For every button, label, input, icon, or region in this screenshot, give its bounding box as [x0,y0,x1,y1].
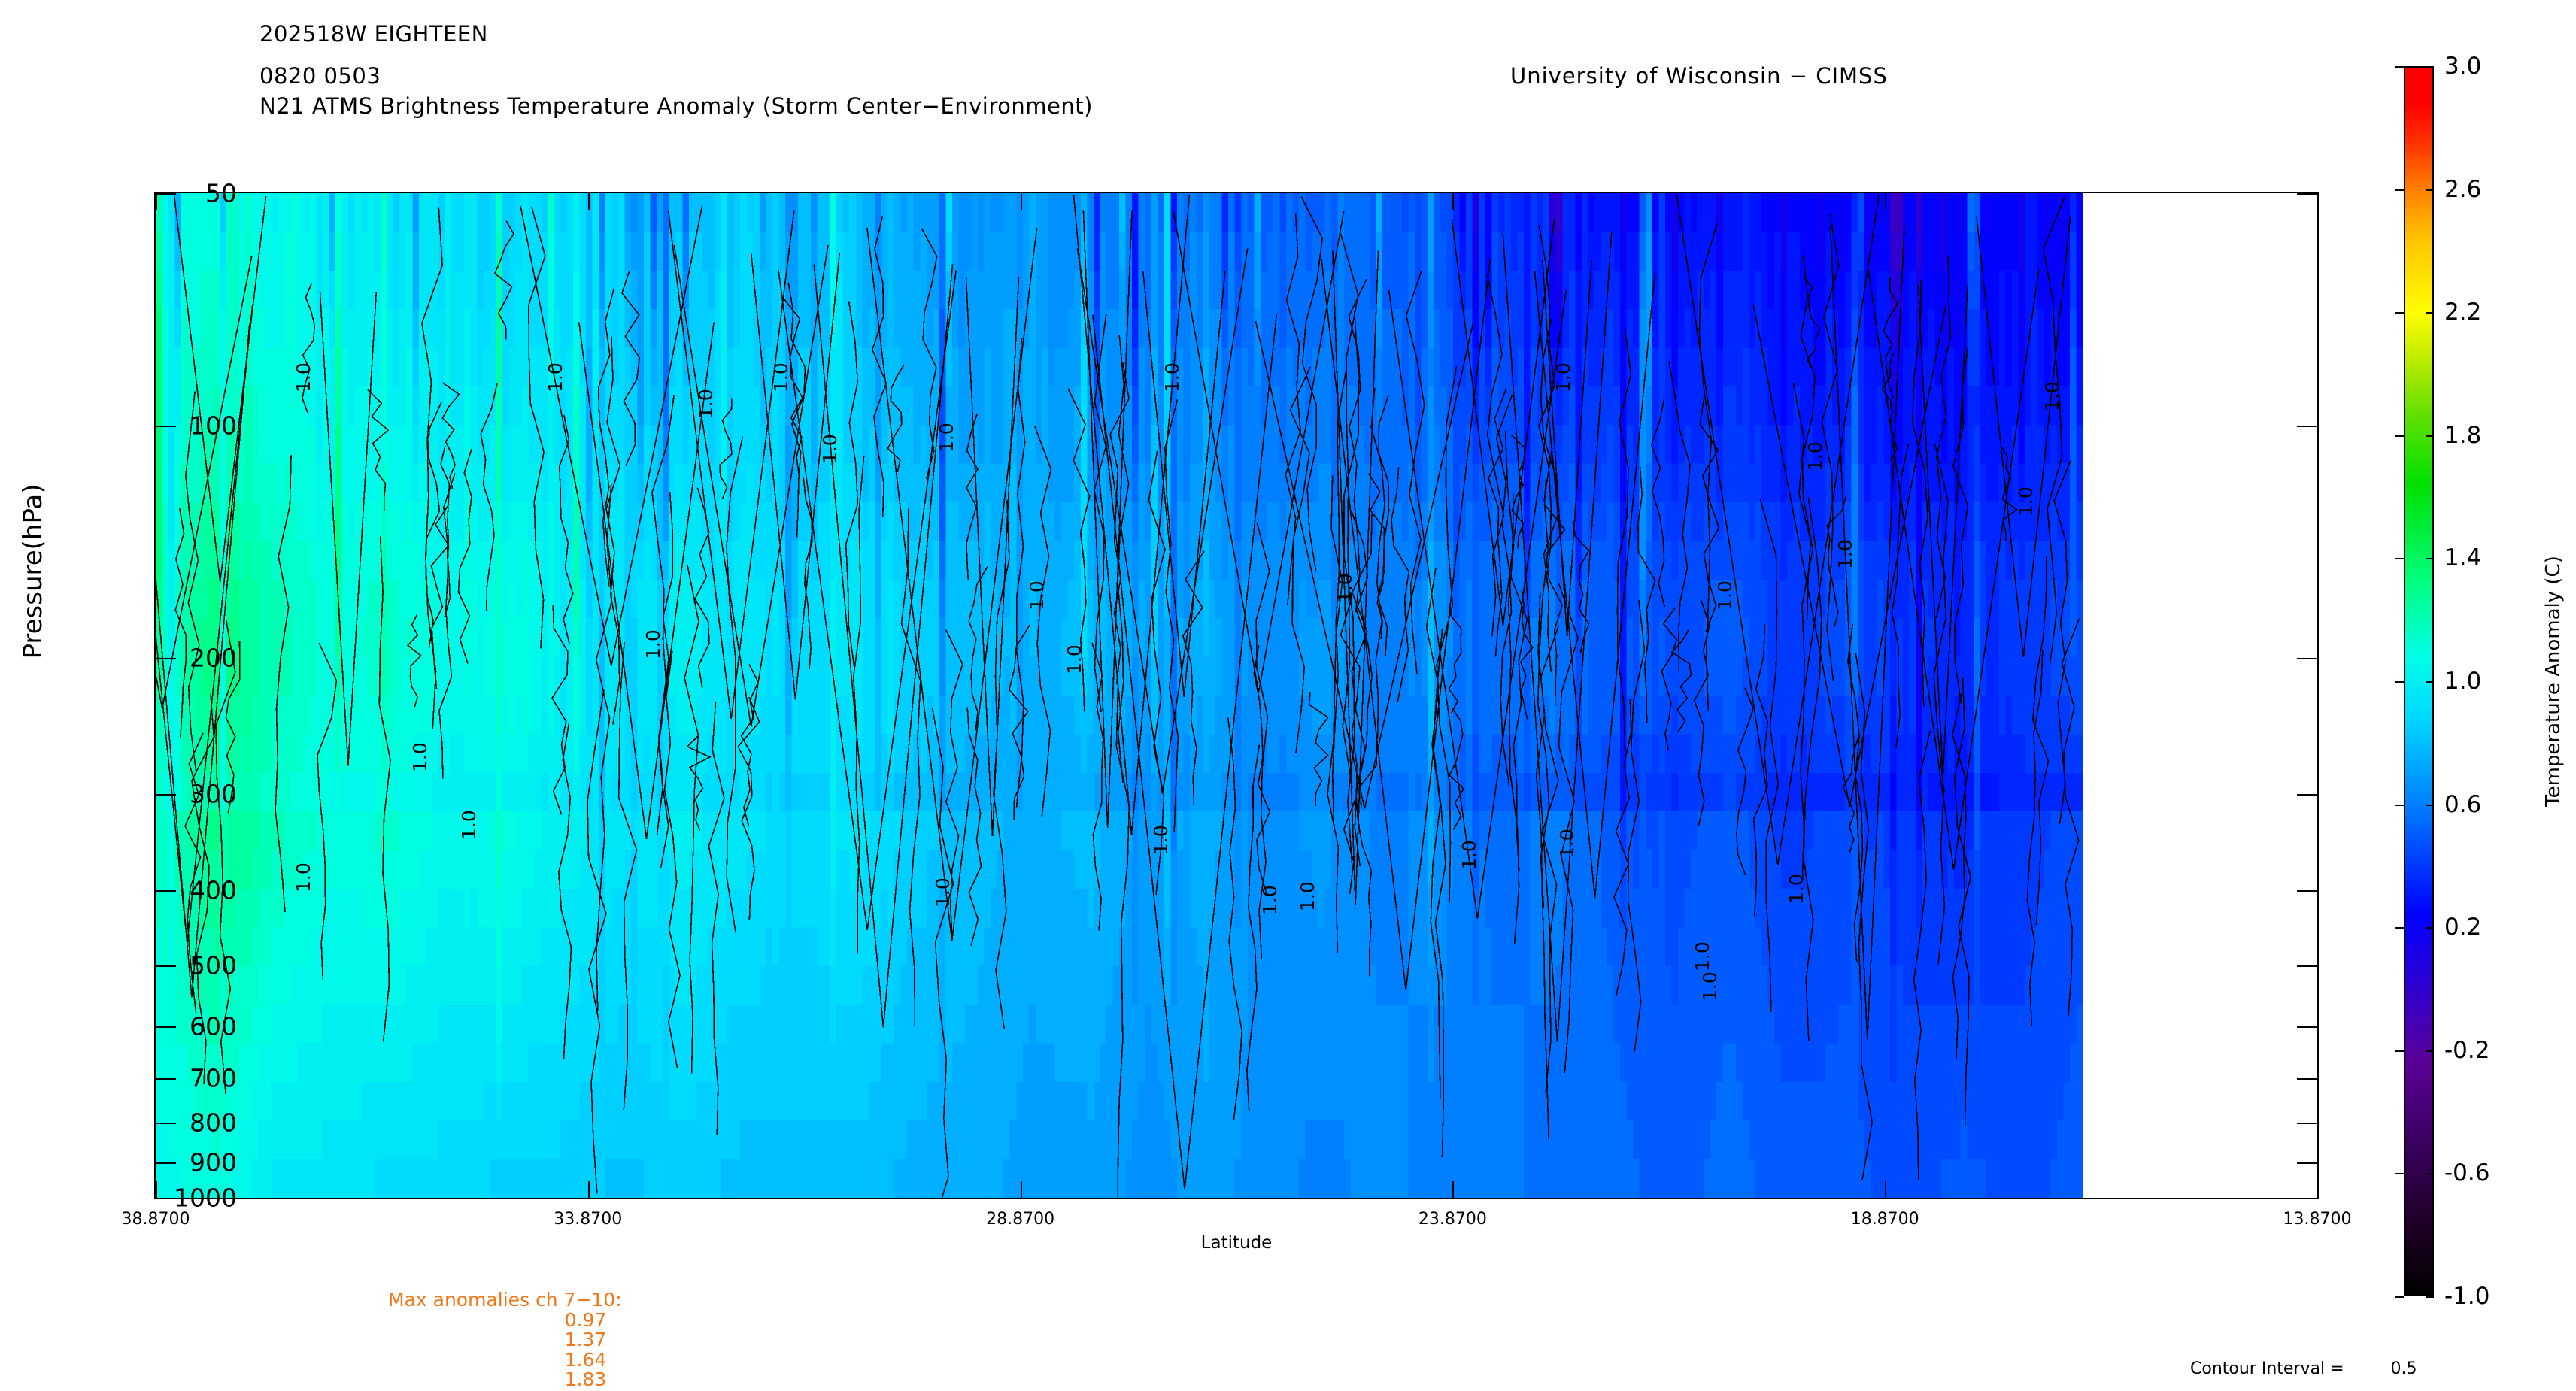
contour-label: 1.0 [545,362,566,392]
y-tick [156,1026,176,1028]
colorbar-tick [2426,927,2434,929]
colorbar-tick [2395,66,2404,68]
y-tick-label: 1000 [174,1183,237,1213]
y-tick [2297,1123,2317,1124]
colorbar-tick-label: -0.2 [2444,1037,2490,1064]
contour-label: 1.0 [1259,885,1281,915]
x-tick-label: 33.8700 [554,1210,622,1229]
contour-label: 1.0 [1026,580,1048,611]
contour-label: 1.0 [1150,825,1172,855]
x-tick [2317,193,2319,210]
x-tick-label: 13.8700 [2283,1210,2352,1229]
colorbar-tick [2395,805,2404,806]
contour-label: 1.0 [642,629,664,659]
contour-label: 1.0 [819,434,841,464]
contour-label: 1.0 [695,389,717,419]
contour-label: 1.0 [1714,580,1736,611]
max-anomalies-label: Max anomalies ch 7−10: [388,1290,655,1311]
contour-label: 1.0 [2041,381,2063,411]
colorbar-tick-label: 2.2 [2444,299,2481,326]
colorbar-tick [2395,189,2404,191]
x-tick-label: 18.8700 [1851,1210,1919,1229]
x-tick [156,1181,157,1198]
cross-section-plot[interactable]: 1.01.01.01.01.01.01.01.01.01.01.01.01.01… [154,192,2319,1199]
y-tick [156,1198,176,1199]
colorbar-tick [2395,312,2404,314]
y-tick-label: 700 [190,1063,237,1092]
max-anomaly-value: 1.64 [516,1350,655,1371]
y-tick-label: 900 [190,1148,237,1177]
x-tick-label: 23.8700 [1418,1210,1487,1229]
max-anomaly-value: 0.97 [516,1311,655,1331]
colorbar-tick [2395,927,2404,929]
contour-label: 1.0 [1699,971,1721,1002]
colorbar-tick [2395,681,2404,683]
contour-label: 1.0 [1161,362,1183,392]
x-axis-title: Latitude [1201,1233,1273,1253]
colorbar-tick-label: -1.0 [2444,1283,2490,1310]
contour-label: 1.0 [2015,486,2037,517]
y-tick [2297,426,2317,427]
colorbar-tick [2426,1296,2434,1298]
contour-label: 1.0 [1334,573,1356,603]
institution-label: University of Wisconsin − CIMSS [1510,63,1888,89]
y-tick [156,658,176,659]
contour-label: 1.0 [1063,644,1085,674]
colorbar-tick [2426,681,2434,683]
colorbar-tick [2426,66,2434,68]
y-tick [2297,1162,2317,1164]
colorbar-tick [2426,1173,2434,1174]
contour-label: 1.0 [409,742,431,772]
y-tick [2297,794,2317,796]
contour-label: 1.0 [293,862,314,892]
colorbar-tick-label: 3.0 [2444,53,2481,80]
y-tick-label: 300 [190,780,237,809]
colorbar-tick [2395,558,2404,559]
contour-label: 1.0 [1786,874,1807,904]
x-tick [1452,1181,1454,1198]
contour-label: 1.0 [936,423,957,453]
x-tick [1021,193,1022,210]
colorbar-tick-label: 1.8 [2444,422,2481,449]
y-tick-label: 400 [190,876,237,905]
y-tick [2297,1198,2317,1199]
y-tick [2297,1078,2317,1080]
x-tick [1452,193,1454,210]
colorbar-tick [2395,435,2404,437]
observation-times: 0820 0503 [259,63,381,89]
colorbar-tick [2426,435,2434,437]
colorbar-tick [2426,1050,2434,1052]
storm-id-label: 202518W EIGHTEEN [259,21,488,47]
y-axis-title: Pressure(hPa) [18,483,48,659]
contour-label: 1.0 [1297,881,1318,911]
contour-label: 1.0 [293,362,314,392]
colorbar-tick [2395,1050,2404,1052]
contour-label: 1.0 [1552,362,1574,392]
contour-field: 1.01.01.01.01.01.01.01.01.01.01.01.01.01… [156,193,2083,1198]
contour-interval-note: Contour Interval =0.5 [2190,1359,2417,1378]
x-tick [588,1181,590,1198]
y-tick [156,1078,176,1080]
x-tick-label: 38.8700 [122,1210,190,1229]
x-tick [588,193,590,210]
x-tick [1885,1181,1886,1198]
contour-label: 1.0 [1692,941,1713,971]
y-tick [156,426,176,427]
contour-label: 1.0 [1458,840,1480,870]
max-anomaly-value: 1.83 [516,1370,655,1390]
max-anomalies-annotation: Max anomalies ch 7−10: 0.97 1.37 1.64 1.… [388,1290,655,1390]
x-tick [2317,1181,2319,1198]
y-tick-label: 100 [190,411,237,441]
max-anomaly-value: 1.37 [516,1330,655,1350]
plot-description: N21 ATMS Brightness Temperature Anomaly … [259,93,1093,119]
y-tick [156,193,176,195]
colorbar-tick-label: 1.4 [2444,544,2481,571]
y-tick [156,1123,176,1124]
x-tick-label: 28.8700 [986,1210,1054,1229]
y-tick [2297,193,2317,195]
y-tick-label: 600 [190,1012,237,1041]
y-tick [156,794,176,796]
y-tick-label: 800 [190,1108,237,1138]
colorbar-tick [2426,805,2434,806]
y-tick [156,890,176,892]
y-tick [2297,658,2317,659]
colorbar-tick-label: 0.2 [2444,914,2481,941]
colorbar-tick-label: 0.6 [2444,791,2481,818]
colorbar-title: Temperature Anomaly (C) [2542,556,2565,807]
x-tick [1885,193,1886,210]
contour-label: 1.0 [458,810,480,840]
y-tick [2297,1026,2317,1028]
colorbar[interactable] [2404,66,2434,1296]
contour-interval-value: 0.5 [2391,1359,2417,1378]
colorbar-tick [2426,558,2434,559]
colorbar-tick-label: 1.0 [2444,668,2481,695]
y-tick [156,1162,176,1164]
contour-label: 1.0 [932,877,954,908]
colorbar-tick [2395,1296,2404,1298]
colorbar-tick [2426,189,2434,191]
colorbar-tick-label: 2.6 [2444,176,2481,203]
y-tick-label: 500 [190,950,237,980]
y-tick [2297,965,2317,967]
y-tick-label: 200 [190,644,237,673]
y-tick [156,965,176,967]
contour-label: 1.0 [770,362,792,392]
x-tick [156,193,157,210]
colorbar-tick [2426,312,2434,314]
x-tick [1021,1181,1022,1198]
colorbar-tick [2395,1173,2404,1174]
contour-label: 1.0 [1834,539,1856,569]
y-tick [2297,890,2317,892]
contour-label: 1.0 [1804,441,1826,471]
colorbar-tick-label: -0.6 [2444,1159,2490,1186]
contour-label: 1.0 [1556,829,1578,859]
contour-interval-label: Contour Interval = [2190,1359,2344,1378]
y-tick-label: 50 [205,179,237,208]
